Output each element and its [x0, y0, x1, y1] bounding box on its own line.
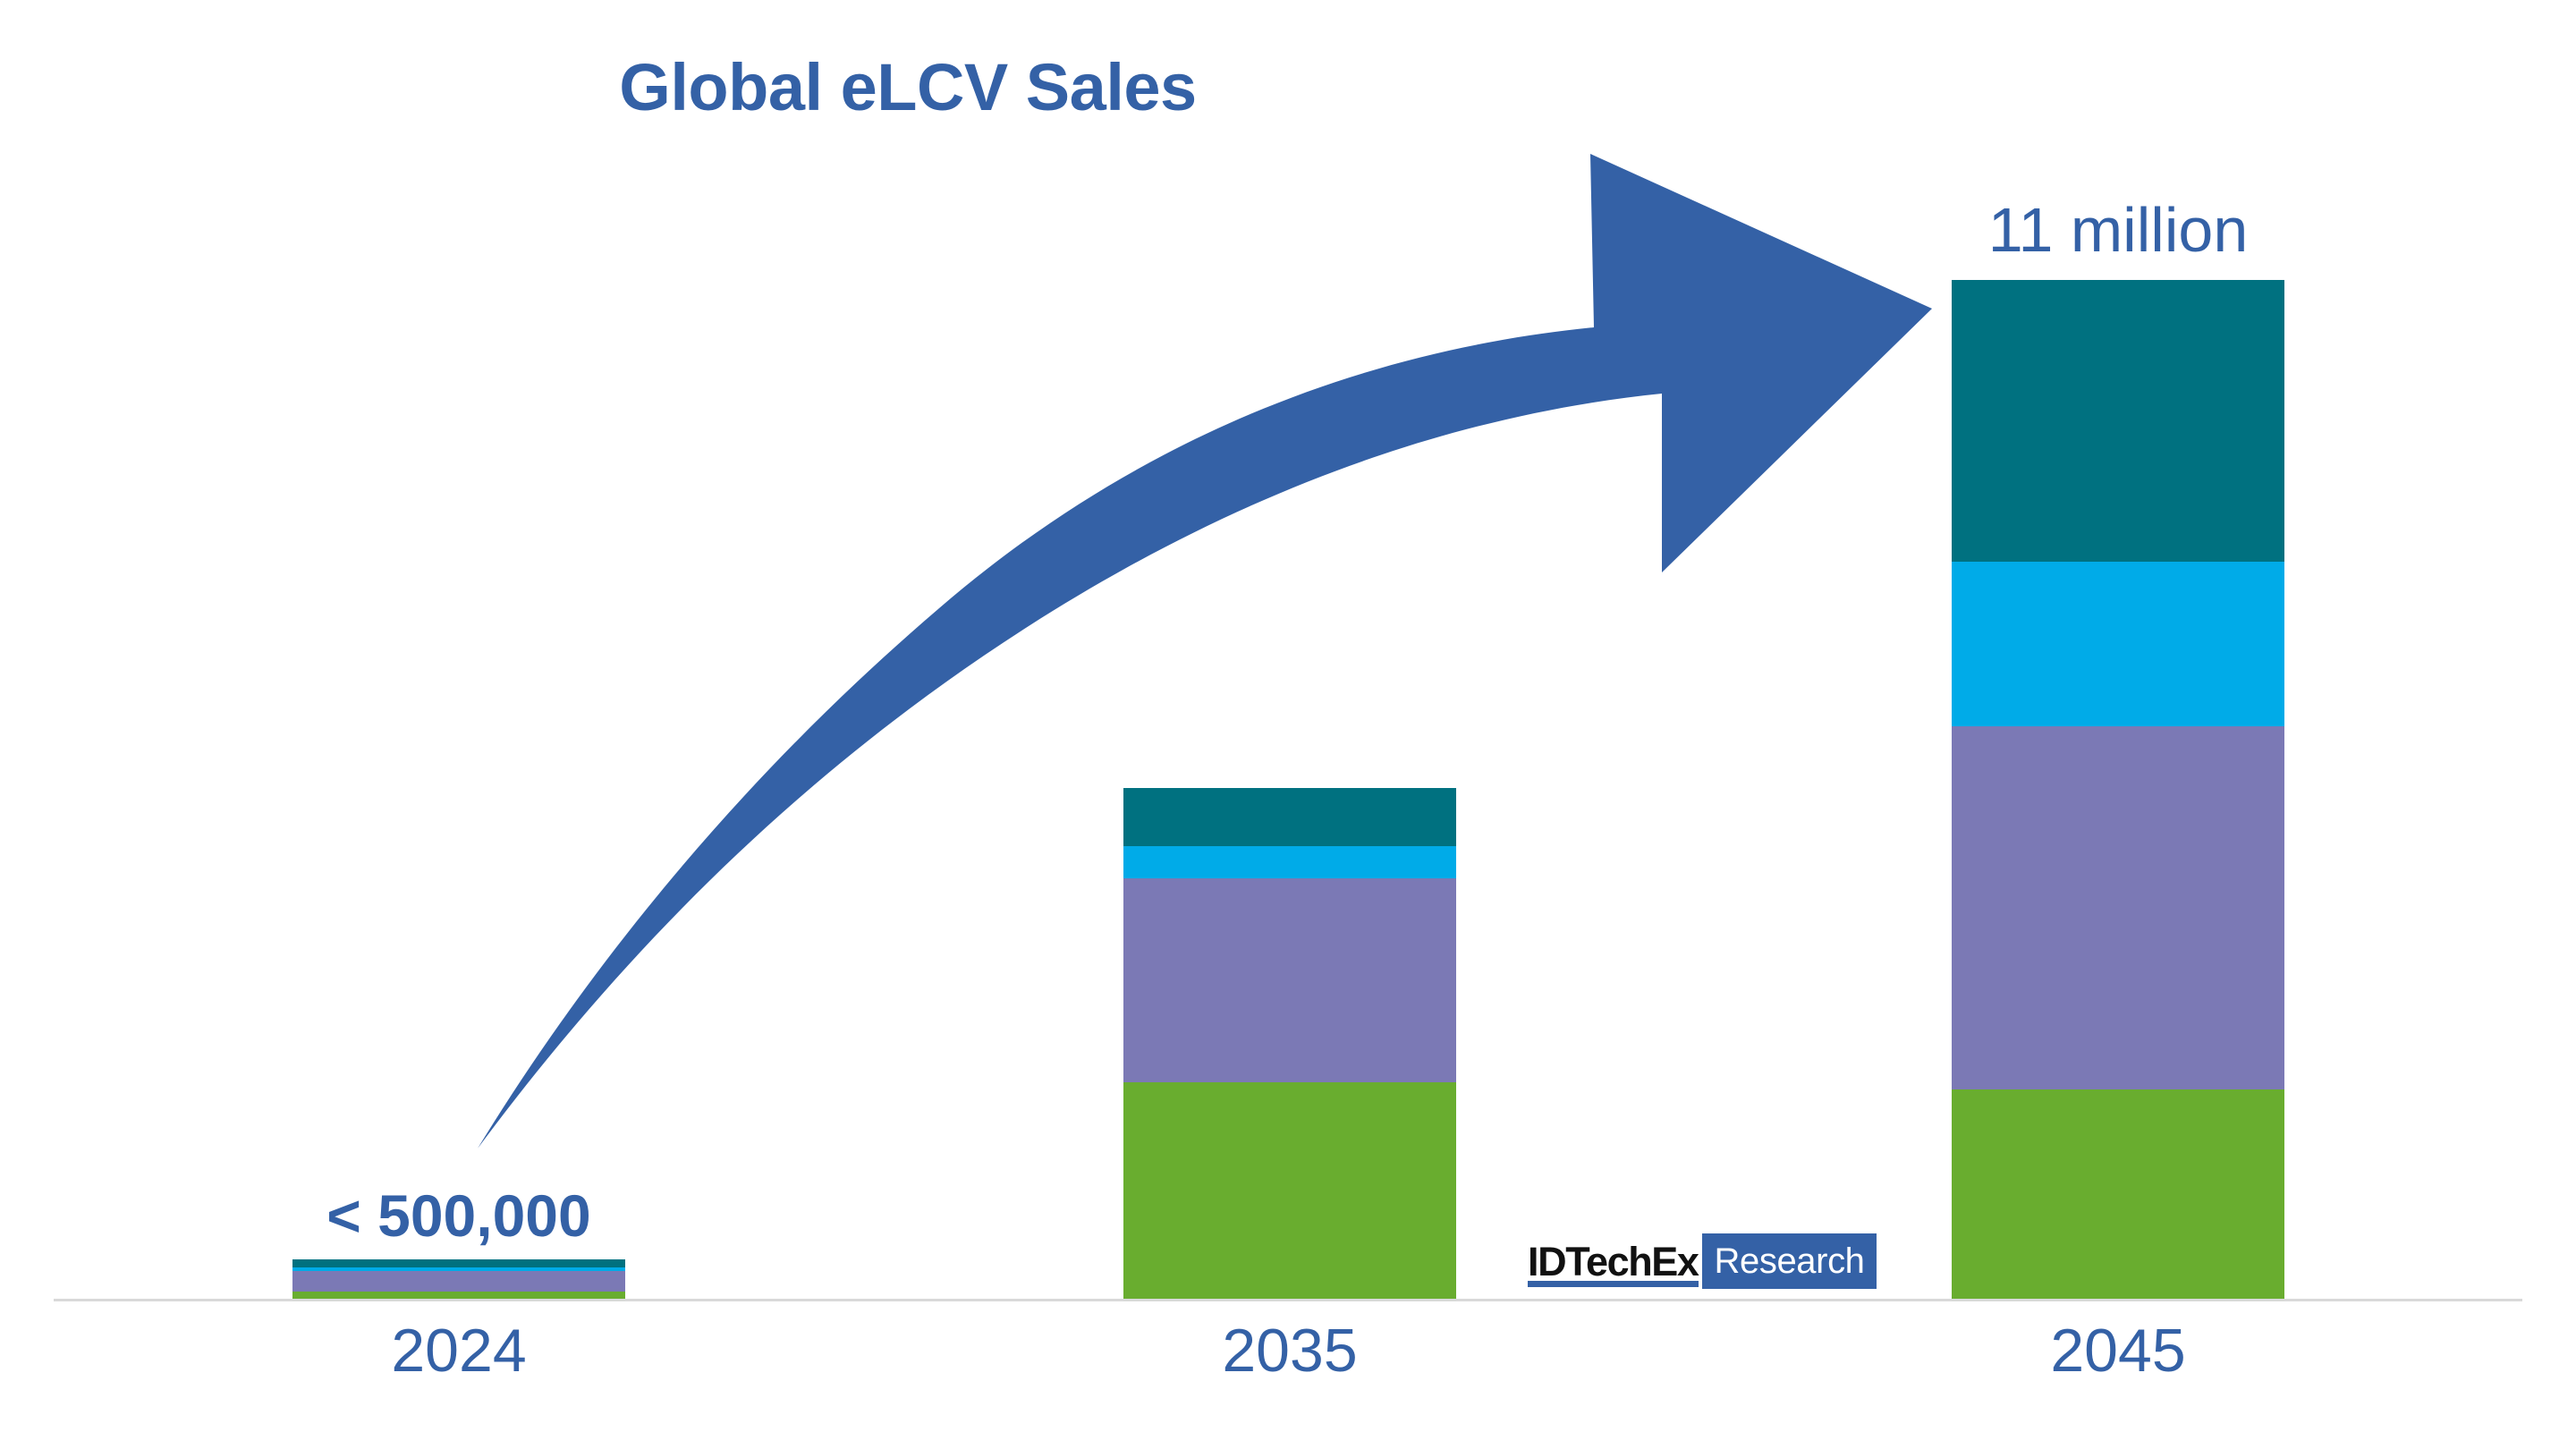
stacked-bar-2045[interactable] — [1952, 280, 2284, 1299]
bar-group-2045: 11 million — [1952, 150, 2284, 1299]
bar-segment-cyan-2035 — [1123, 846, 1456, 878]
bar-segment-purple-2035 — [1123, 878, 1456, 1082]
idtechex-wordmark: IDTechEx — [1526, 1233, 1702, 1289]
bar-segment-green-2024 — [292, 1292, 625, 1299]
bar-value-label-2045: 11 million — [1952, 199, 2284, 261]
stacked-bar-2024[interactable] — [292, 1259, 625, 1299]
bar-segment-green-2035 — [1123, 1082, 1456, 1299]
bar-segment-cyan-2045 — [1952, 562, 2284, 726]
chart-canvas: Global eLCV Sales < 500,000 2024 — [0, 0, 2576, 1449]
bar-value-label-2024: < 500,000 — [292, 1186, 625, 1245]
category-label-2024: 2024 — [292, 1320, 625, 1381]
category-label-2035: 2035 — [1123, 1320, 1456, 1381]
bar-segment-teal-2045 — [1952, 280, 2284, 562]
idtechex-wordmark-text: IDTechEx — [1528, 1241, 1699, 1282]
bar-segment-purple-2024 — [292, 1271, 625, 1292]
idtechex-research-badge: Research — [1702, 1233, 1877, 1289]
category-label-2045: 2045 — [1952, 1320, 2284, 1381]
plot-area: < 500,000 2024 2035 11 million — [0, 0, 2576, 1449]
idtechex-logo[interactable]: IDTechEx Research — [1526, 1233, 1877, 1289]
stacked-bar-2035[interactable] — [1123, 788, 1456, 1299]
bar-segment-purple-2045 — [1952, 726, 2284, 1089]
idtechex-underline — [1528, 1281, 1699, 1287]
bar-segment-teal-2035 — [1123, 788, 1456, 846]
bar-segment-green-2045 — [1952, 1089, 2284, 1299]
bar-segment-teal-2024 — [292, 1259, 625, 1267]
bar-group-2035 — [1123, 150, 1456, 1299]
bar-group-2024: < 500,000 — [292, 150, 625, 1299]
x-axis-line — [54, 1299, 2522, 1301]
